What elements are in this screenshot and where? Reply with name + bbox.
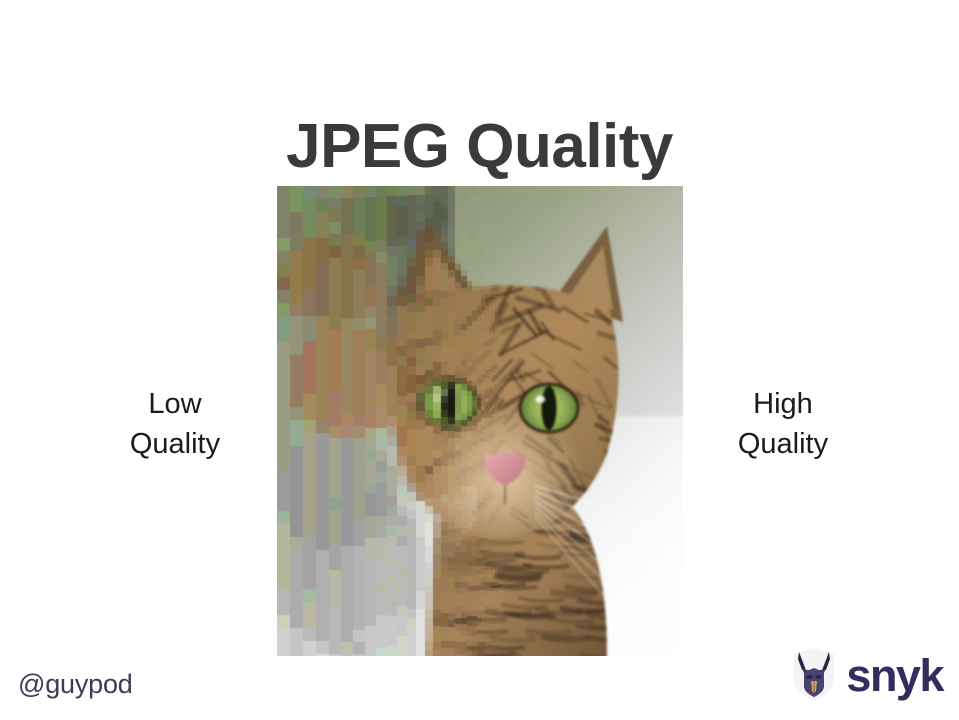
slide-root: JPEG Quality Low Quality High Quality @g… xyxy=(0,0,959,720)
caption-low-line2: Quality xyxy=(75,424,275,464)
caption-high-quality: High Quality xyxy=(683,384,883,464)
snyk-doberman-shield-icon xyxy=(790,646,838,702)
cat-photo-figure xyxy=(277,186,683,656)
caption-high-line2: Quality xyxy=(683,424,883,464)
jpeg-quality-gradient-image xyxy=(277,186,683,656)
caption-low-line1: Low xyxy=(75,384,275,424)
caption-low-quality: Low Quality xyxy=(75,384,275,464)
snyk-wordmark: snyk xyxy=(846,653,943,698)
snyk-logo: snyk xyxy=(790,646,943,702)
twitter-handle: @guypod xyxy=(18,671,133,698)
page-title: JPEG Quality xyxy=(0,114,959,179)
caption-high-line1: High xyxy=(683,384,883,424)
